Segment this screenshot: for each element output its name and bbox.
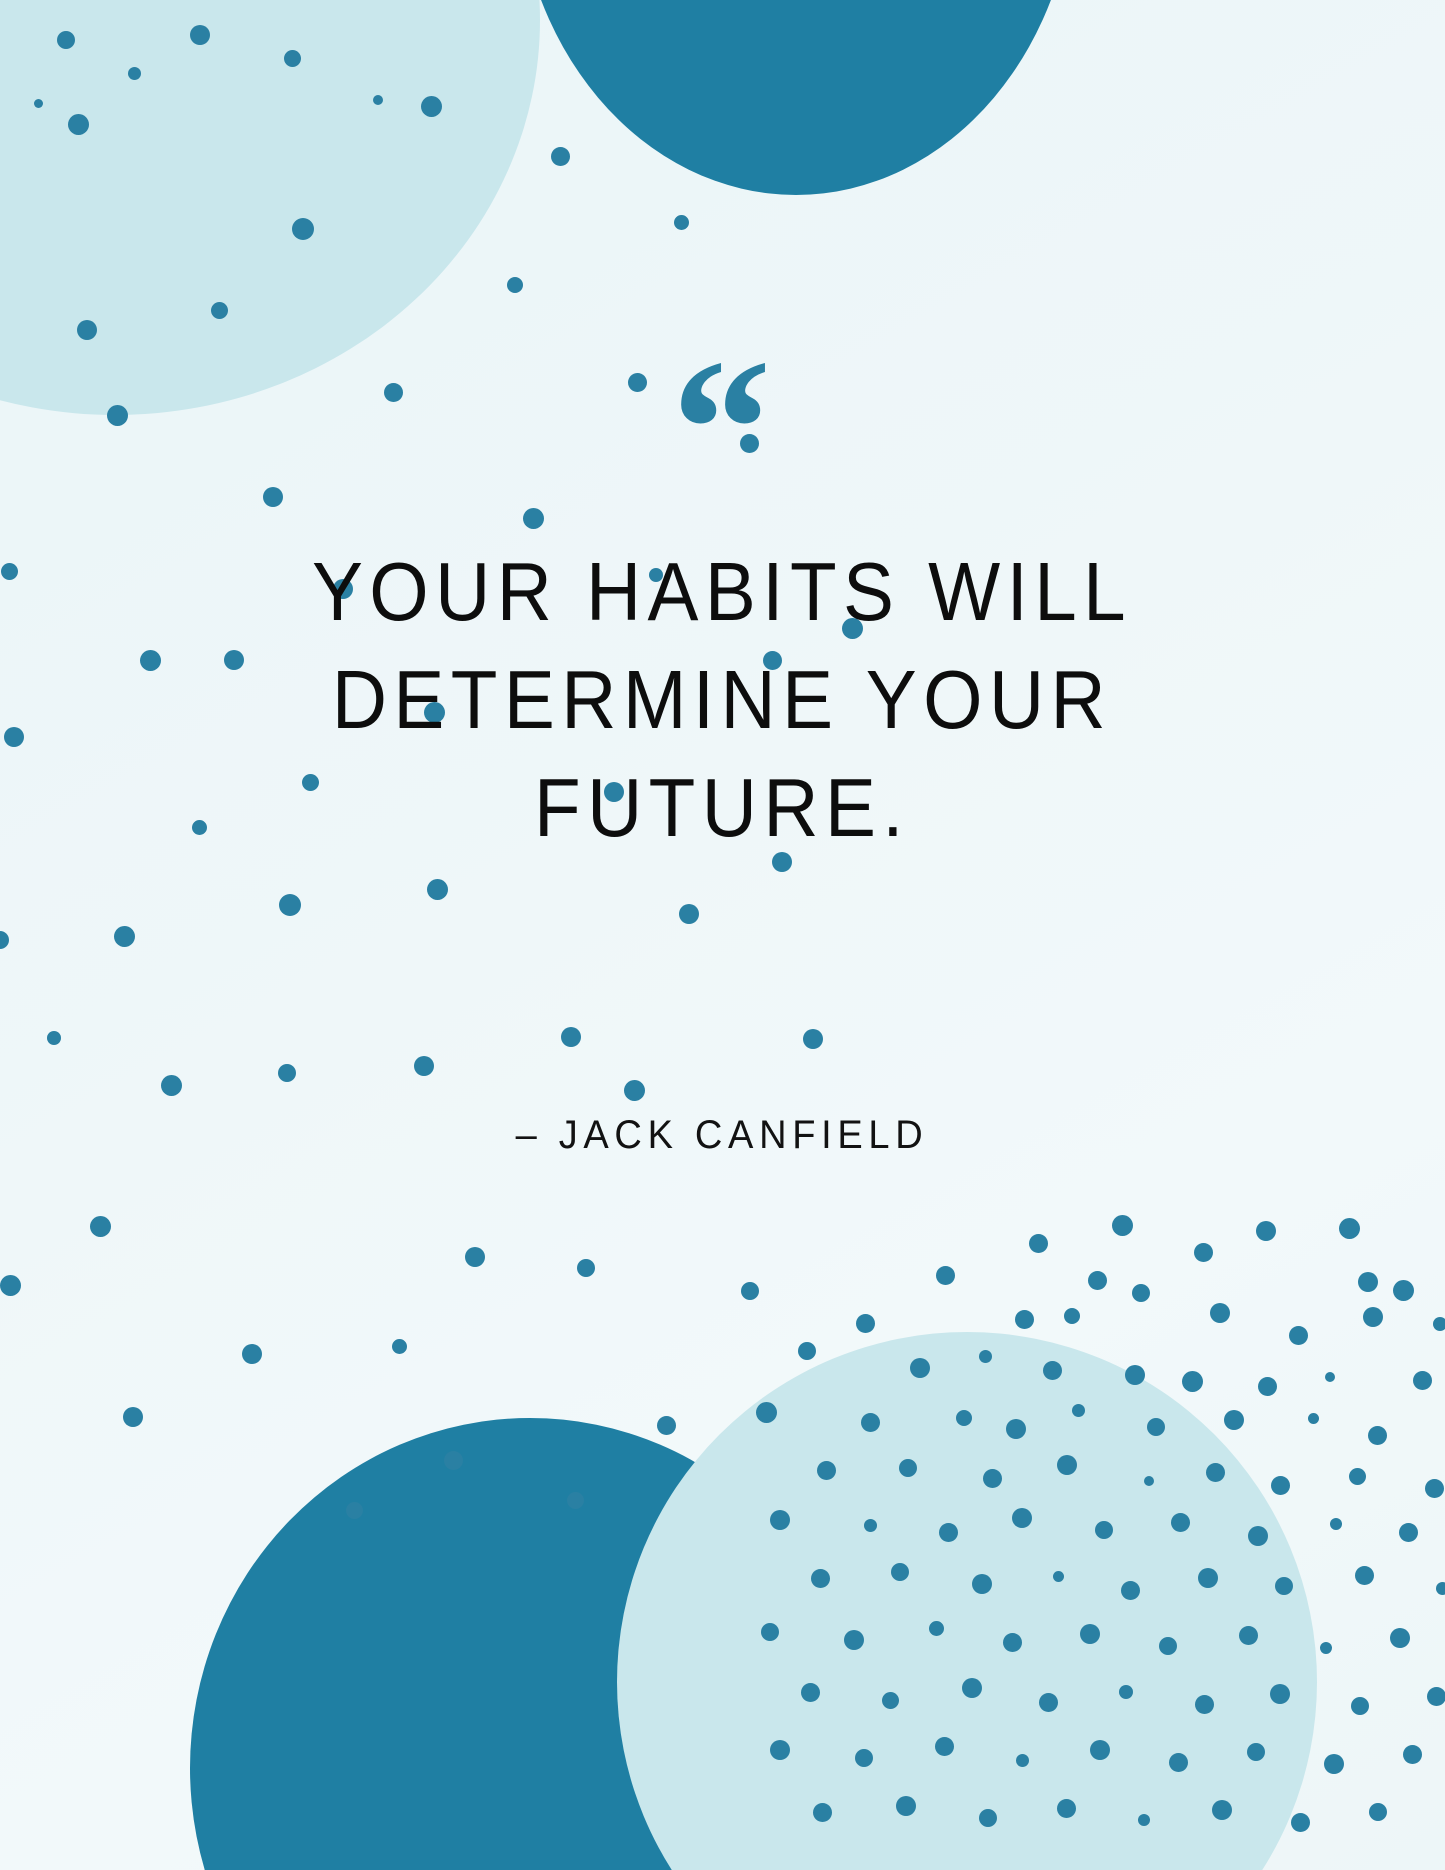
- quote-line-2: DETERMINE YOUR: [216, 646, 1228, 754]
- quote-poster: “ YOUR HABITS WILL DETERMINE YOUR FUTURE…: [0, 0, 1445, 1870]
- open-quote-icon: “: [0, 330, 1445, 530]
- quote-line-3: FUTURE.: [216, 754, 1228, 862]
- poster-content: “ YOUR HABITS WILL DETERMINE YOUR FUTURE…: [0, 0, 1445, 1870]
- quote-text: YOUR HABITS WILL DETERMINE YOUR FUTURE.: [216, 538, 1228, 862]
- quote-attribution: – JACK CANFIELD: [200, 1113, 1245, 1158]
- quote-line-1: YOUR HABITS WILL: [216, 538, 1228, 646]
